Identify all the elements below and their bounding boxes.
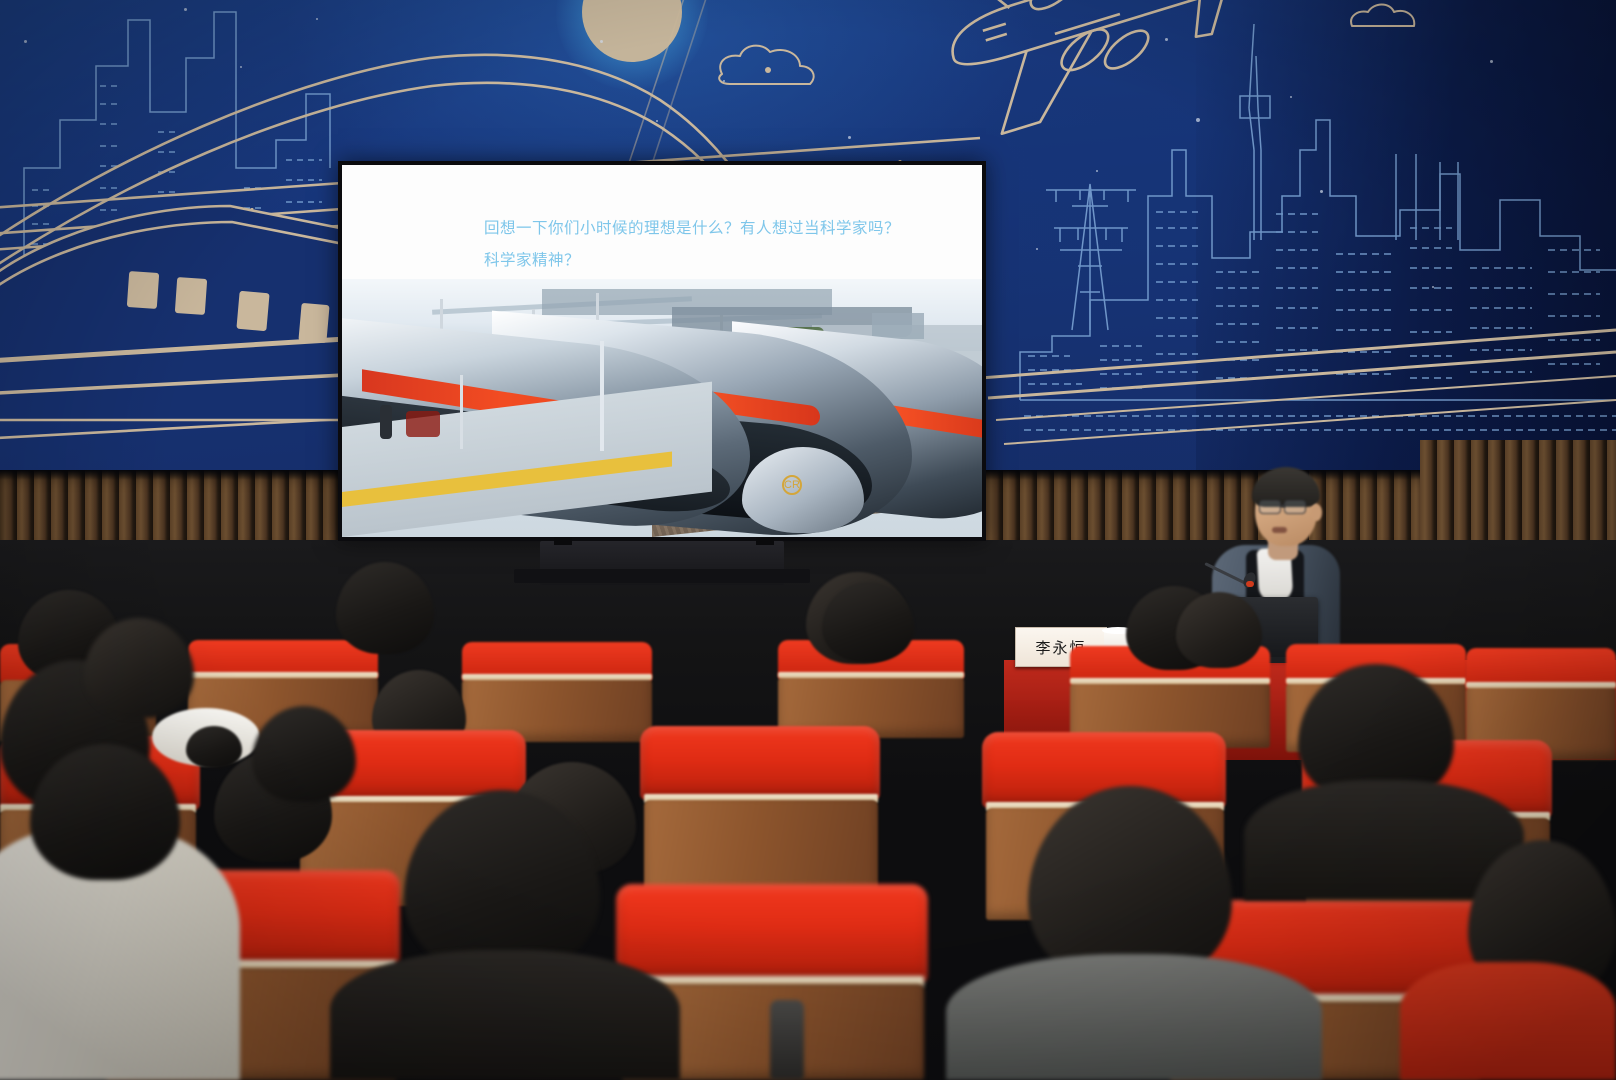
slide-line-1: 回想一下你们小时候的理想是什么？有人想过当科学家吗？ [484, 213, 962, 245]
slide-surface: 回想一下你们小时候的理想是什么？有人想过当科学家吗？ 科学家精神？ [342, 165, 982, 537]
seat-cushion [616, 884, 928, 982]
platform-object [406, 411, 440, 437]
slide-line-2: 科学家精神？ [484, 245, 962, 277]
platform-pole [460, 375, 463, 449]
screenshot-root: 回想一下你们小时候的理想是什么？有人想过当科学家吗？ 科学家精神？ [0, 0, 1616, 1080]
microphone-indicator [1246, 581, 1254, 587]
audience-head [186, 726, 242, 768]
seat-trim [778, 672, 964, 678]
eyeglasses-bridge [1281, 505, 1285, 507]
cr-logo-icon: CR [782, 475, 802, 495]
audience-shoulders [330, 950, 680, 1080]
eyeglasses-left-lens [1259, 500, 1281, 514]
person-on-platform [380, 405, 392, 439]
slide-photo-trains: CR [342, 279, 982, 537]
background-building [872, 313, 924, 339]
seat-trim [1070, 678, 1270, 684]
seat-cushion [640, 726, 880, 800]
seat-trim [188, 672, 378, 678]
water-bottle [770, 1000, 804, 1080]
screen-foot-left [554, 537, 572, 545]
platform-pole [600, 341, 604, 451]
audience-shoulders [946, 954, 1322, 1080]
speaker-ear [1311, 504, 1322, 521]
speaker-mouth [1272, 527, 1287, 533]
screen-foot-right [756, 537, 774, 545]
seat-trim [462, 674, 652, 680]
seat-trim [1466, 682, 1616, 688]
screen-stand [540, 541, 784, 585]
slide-text-block: 回想一下你们小时候的理想是什么？有人想过当科学家吗？ 科学家精神？ [484, 213, 962, 277]
eyeglasses-right-lens [1284, 500, 1306, 514]
projection-screen[interactable]: 回想一下你们小时候的理想是什么？有人想过当科学家吗？ 科学家精神？ [338, 161, 986, 541]
audience-shoulders [1400, 962, 1616, 1080]
